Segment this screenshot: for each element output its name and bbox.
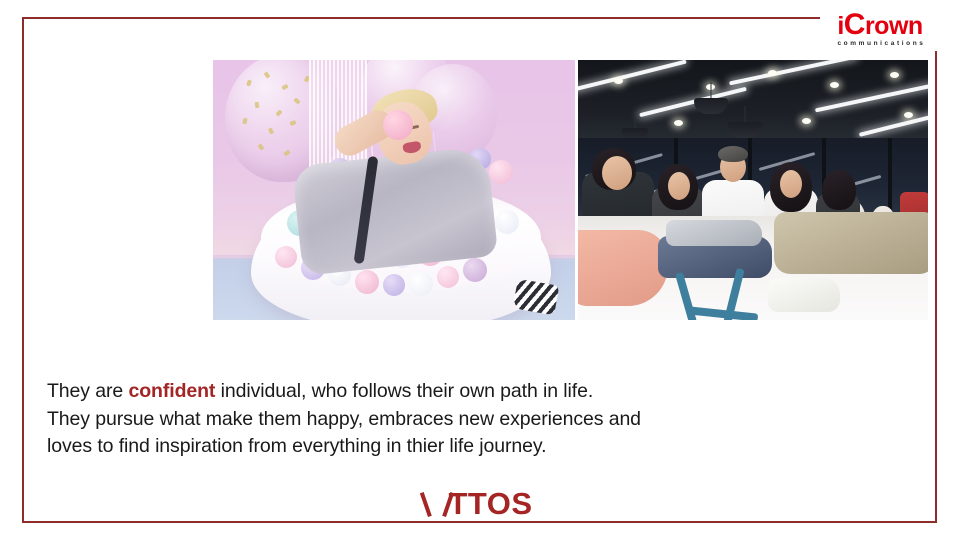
icrown-wordmark: iCrown [824,12,936,39]
copy-line-2: They pursue what make them happy, embrac… [47,406,787,434]
attos-letter-a-chevron [427,493,447,517]
icrown-letters-rown: rown [865,12,923,40]
person-hair [822,170,856,210]
copy-line-3: loves to find inspiration from everythin… [47,433,787,461]
khaki-garment [774,212,928,274]
person-face [602,156,632,190]
denim-jacket [292,146,498,276]
person-hair [718,146,748,162]
copy-line-1-before: They are [47,380,128,402]
pink-garment [578,230,668,306]
copy-highlight-confident: confident [128,380,215,402]
person-face [668,172,690,200]
photo-row [213,60,928,320]
attos-wordmark: TTOS [427,487,532,521]
held-pink-ball [383,110,413,140]
copy-line-1-after: individual, who follows their own path i… [215,380,593,402]
icrown-letter-c: C [844,8,865,41]
presentation-slide: iCrown communications [0,0,960,540]
attos-logo: TTOS [0,487,960,521]
copy-line-1: They are confident individual, who follo… [47,378,787,406]
showroom-garment-review-photo [578,60,928,320]
icrown-tagline: communications [824,39,936,48]
attos-letters: TTOS [448,486,532,521]
body-copy: They are confident individual, who follo… [47,378,787,461]
lifestyle-ball-pit-photo [213,60,575,320]
grey-garment [666,220,762,246]
pendant-lamp [728,122,762,138]
icrown-logo: iCrown communications [820,10,940,51]
printed-fabric-swatch [768,278,840,312]
person-face [780,170,802,198]
pendant-lamp [694,98,728,114]
